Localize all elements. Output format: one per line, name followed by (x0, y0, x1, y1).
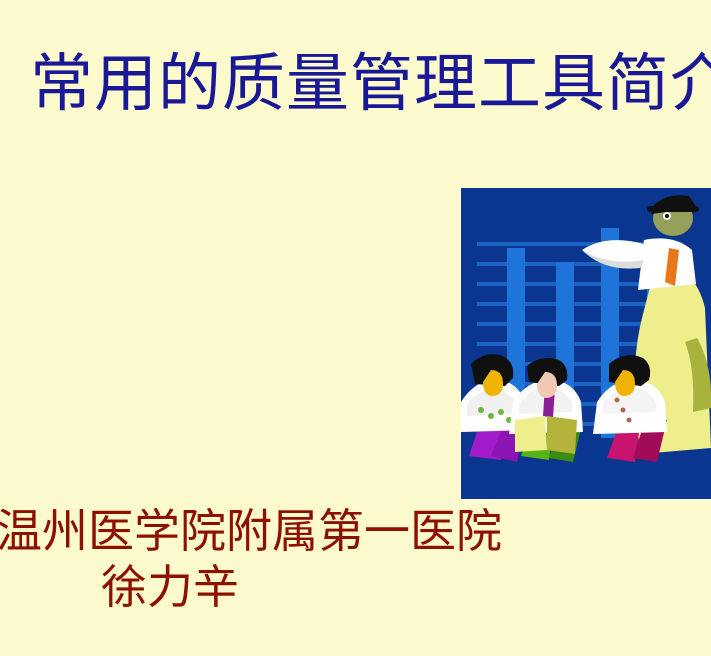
clipart-svg (461, 188, 711, 499)
subtitle-block: 温州医学院附属第一医院 徐力辛 (0, 504, 500, 616)
page-title: 常用的质量管理工具简介 (30, 46, 711, 122)
clipart-image (461, 188, 711, 499)
presentation-slide: 常用的质量管理工具简介 (0, 0, 711, 656)
subtitle-organization: 温州医学院附属第一医院 (0, 504, 500, 560)
subtitle-author: 徐力辛 (0, 560, 340, 616)
